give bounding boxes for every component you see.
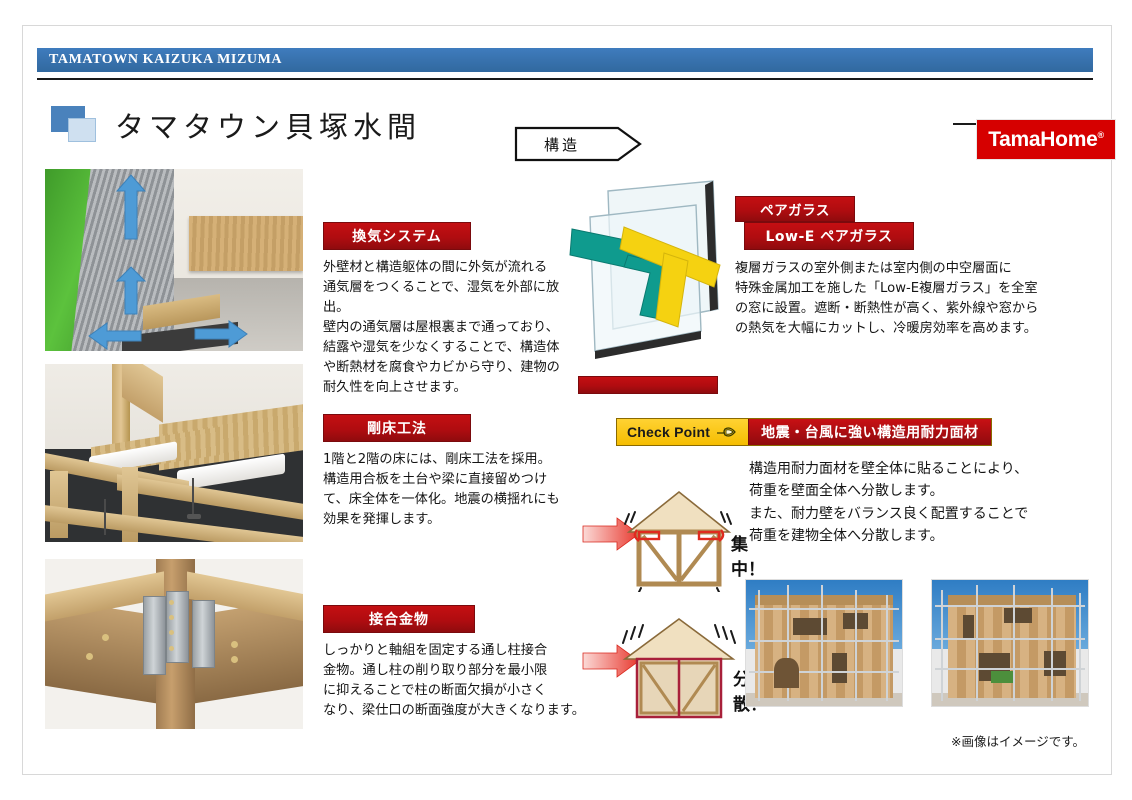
pair-glass-heading-sub: Low-E ペアガラス <box>744 222 914 250</box>
pair-glass-heading-top: ペアガラス <box>735 196 855 222</box>
top-title-bar: TAMATOWN KAIZUKA MIZUMA <box>37 48 1093 74</box>
check-point-badge-label: Check Point <box>627 424 710 440</box>
check-point-badge-yellow: Check Point <box>617 419 748 445</box>
ventilation-heading: 換気システム <box>323 222 471 250</box>
page-title: タマタウン貝塚水間 <box>115 104 421 146</box>
tamahome-logo: TamaHome® <box>976 119 1116 160</box>
rigid-floor-heading-label: 剛床工法 <box>367 418 427 438</box>
rigid-floor-heading: 剛床工法 <box>323 414 471 442</box>
tamahome-logo-text: TamaHome <box>988 128 1097 151</box>
logo-connector-line <box>953 123 977 125</box>
check-point-badge: Check Point 地震・台風に強い構造用耐力面材 <box>616 418 992 446</box>
low-e-pair-glass-illustration <box>568 169 748 359</box>
check-point-body-text: 構造用耐力面材を壁全体に貼ることにより、 荷重を壁面全体へ分散します。 また、耐… <box>749 458 1094 548</box>
pointing-hand-icon <box>716 425 738 439</box>
house-diagram-concentrate: ​ 集中！ <box>581 474 771 592</box>
check-point-title-label: 地震・台風に強い構造用耐力面材 <box>761 422 979 442</box>
topbar-title: TAMATOWN KAIZUKA MIZUMA <box>49 52 282 68</box>
registered-trademark-icon: ® <box>1097 130 1103 140</box>
ventilation-detail-photo <box>45 169 303 351</box>
construction-site-photo-left <box>745 579 903 707</box>
section-tag-label: 構造 <box>544 134 580 155</box>
header-divider-rule <box>37 78 1093 80</box>
image-disclaimer-note: ※画像はイメージです。 <box>951 731 1085 750</box>
square-logo-icon <box>51 106 103 144</box>
section-tag-arrow: 構造 <box>514 126 642 162</box>
joint-hardware-heading: 接合金物 <box>323 605 475 633</box>
rigid-floor-cutaway-photo <box>45 364 303 542</box>
airflow-arrows-icon <box>45 169 303 351</box>
pair-glass-body-text: 複層ガラスの室外側または室内側の中空層面に 特殊金属加工を施した「Low-E複層… <box>735 259 1095 339</box>
pair-glass-heading-top-label: ペアガラス <box>760 199 830 219</box>
house-diagram-disperse: 分散！ <box>581 609 771 729</box>
joint-hardware-body-text: しっかりと軸組を固定する通し柱接合 金物。通し柱の削り取り部分を最小限 に抑える… <box>323 641 585 721</box>
joint-hardware-heading-label: 接合金物 <box>369 609 429 629</box>
construction-site-photo-right <box>931 579 1089 707</box>
ventilation-heading-label: 換気システム <box>352 226 442 246</box>
ventilation-body-text: 外壁材と構造躯体の間に外気が流れる 通気層をつくることで、湿気を外部に放出。 壁… <box>323 258 577 398</box>
force-arrow-red-icon-2 <box>583 645 639 677</box>
rigid-floor-body-text: 1階と2階の床には、剛床工法を採用。 構造用合板を土台や梁に直接留めつけ て、床… <box>323 450 577 530</box>
check-point-title: 地震・台風に強い構造用耐力面材 <box>748 419 991 445</box>
joint-hardware-photo <box>45 559 303 729</box>
clipped-red-label <box>578 376 718 394</box>
slide-page: TAMATOWN KAIZUKA MIZUMA タマタウン貝塚水間 構造 Tam… <box>22 25 1112 775</box>
pair-glass-heading-sub-label: Low-E ペアガラス <box>766 226 893 246</box>
house-diagram-concentrate-label: 集中！ <box>731 530 771 580</box>
